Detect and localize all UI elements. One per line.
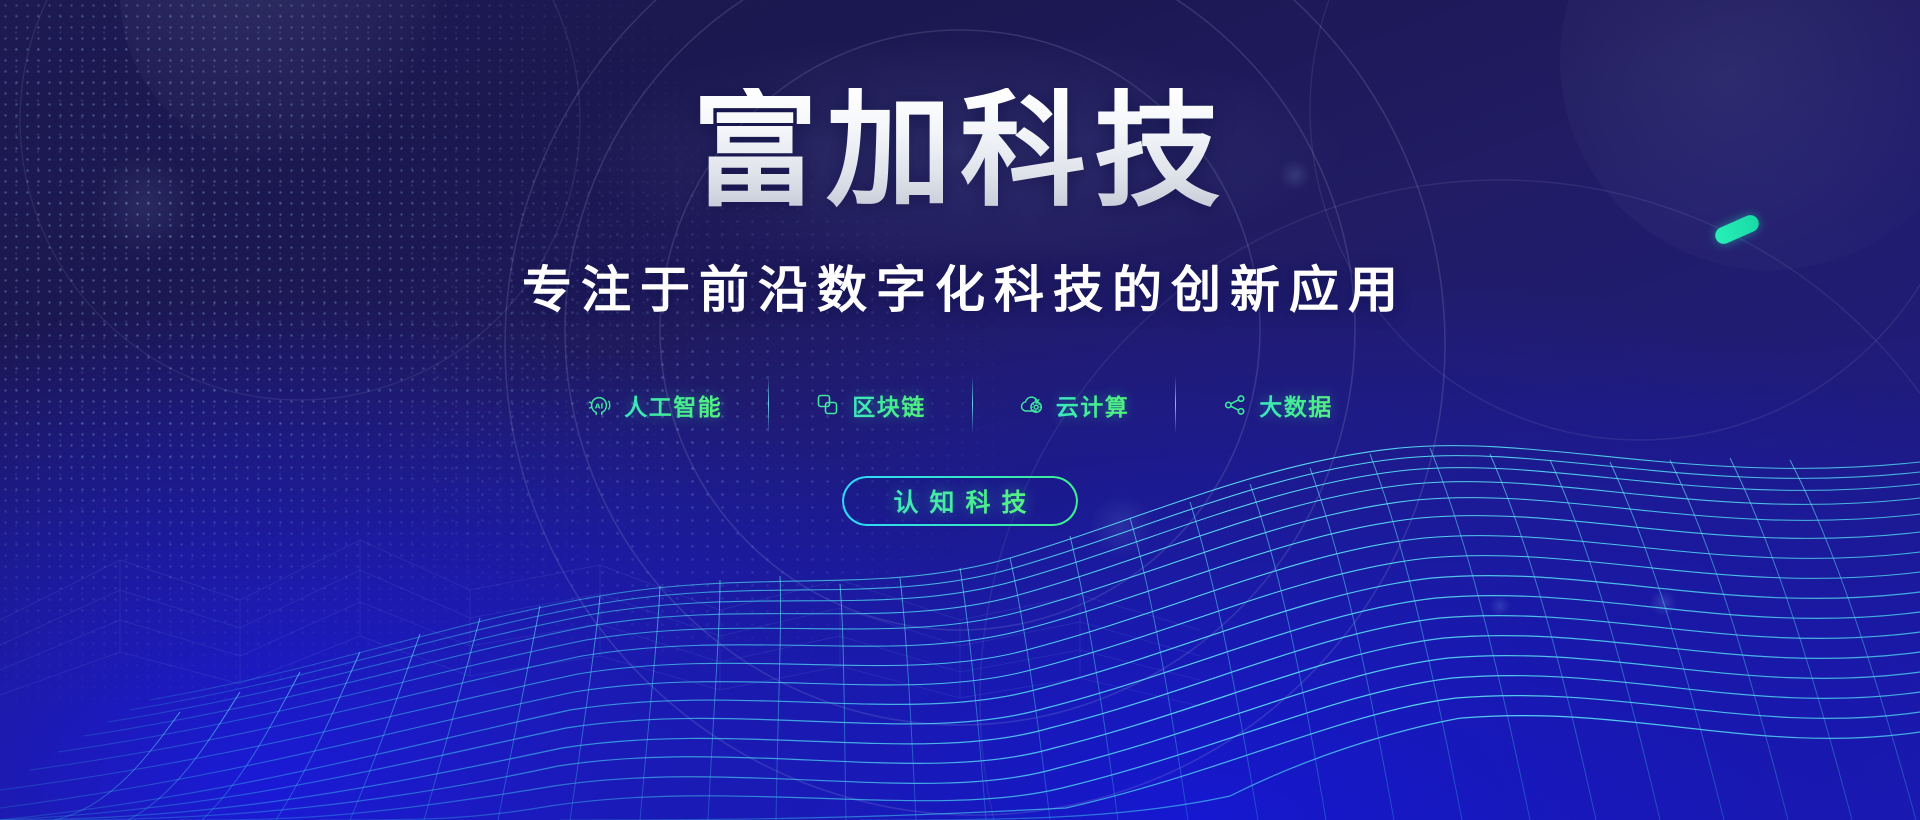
feature-item-cloud[interactable]: 云计算	[973, 388, 1176, 422]
ai-brain-icon: AI	[587, 392, 613, 418]
share-nodes-icon	[1222, 392, 1248, 418]
hero-subtitle: 专注于前沿数字化科技的创新应用	[513, 250, 1407, 322]
cloud-gear-icon	[1019, 392, 1045, 418]
badge-row: 认知科技	[842, 476, 1077, 526]
svg-text:AI: AI	[595, 401, 604, 410]
feature-label-blockchain: 区块链	[852, 388, 926, 422]
badge-label: 认知科技	[882, 483, 1037, 519]
logo-wordmark: 富加科技	[692, 86, 1228, 216]
feature-label-ai: 人工智能	[624, 388, 722, 422]
hero-banner: 富加科技 专注于前沿数字化科技的创新应用 AI 人工智能	[0, 0, 1920, 820]
feature-list: AI 人工智能 区块链	[541, 376, 1379, 434]
logo-text: 富加科技	[692, 88, 1228, 214]
feature-item-blockchain[interactable]: 区块链	[769, 388, 972, 422]
blockchain-icon	[815, 392, 841, 418]
feature-label-bigdata: 大数据	[1259, 388, 1333, 422]
feature-label-cloud: 云计算	[1056, 388, 1130, 422]
logo-accent-stroke	[1713, 212, 1762, 246]
feature-item-ai[interactable]: AI 人工智能	[541, 388, 768, 422]
feature-item-bigdata[interactable]: 大数据	[1176, 388, 1379, 422]
cognitive-tech-badge[interactable]: 认知科技	[842, 476, 1077, 526]
